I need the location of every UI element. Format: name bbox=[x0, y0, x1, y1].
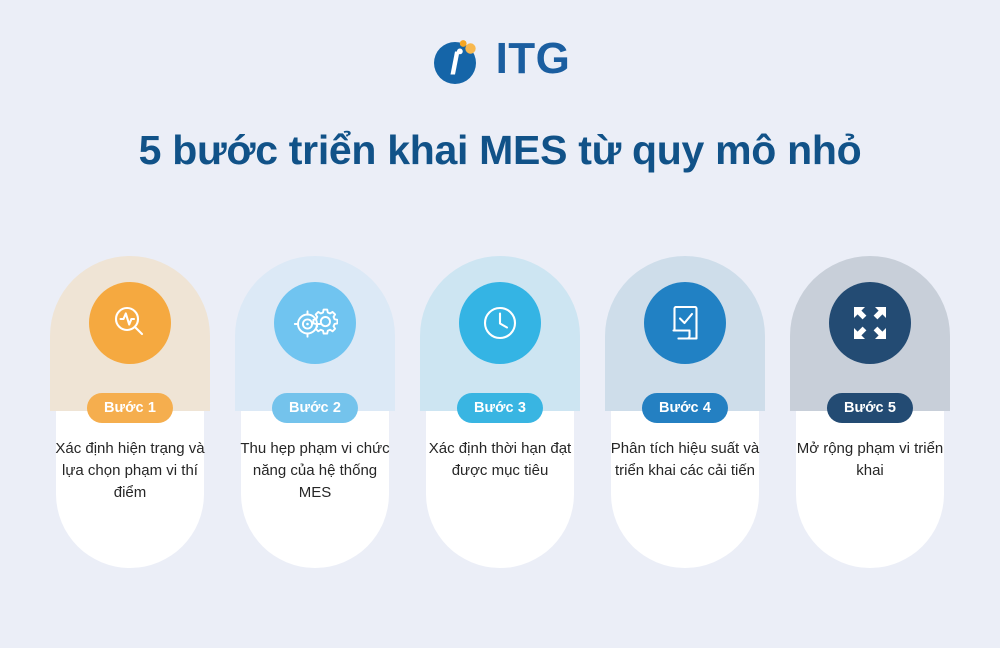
step-description-3: Xác định thời hạn đạt được mục tiêu bbox=[424, 438, 576, 482]
infographic-page: ITG 5 bước triển khai MES từ quy mô nhỏ … bbox=[0, 0, 1000, 648]
step-capsule-bottom-4 bbox=[611, 411, 759, 568]
step-card-3: Bước 3 Xác định thời hạn đạt được mục ti… bbox=[420, 256, 580, 568]
step-card-1: Bước 1 Xác định hiện trạng và lựa chọn p… bbox=[50, 256, 210, 568]
target-gear-icon bbox=[292, 302, 338, 344]
step-badge-2: Bước 2 bbox=[272, 393, 358, 423]
step-badge-5: Bước 5 bbox=[827, 393, 913, 423]
brand-logo: ITG bbox=[0, 28, 1000, 90]
step-card-4: Bước 4 Phân tích hiệu suất và triển khai… bbox=[605, 256, 765, 568]
step-capsule-bottom-3 bbox=[426, 411, 574, 568]
page-title: 5 bước triển khai MES từ quy mô nhỏ bbox=[0, 126, 1000, 174]
expand-arrows-icon bbox=[850, 303, 890, 343]
step-card-5: Bước 5 Mở rộng phạm vi triển khai bbox=[790, 256, 950, 568]
step-description-5: Mở rộng phạm vi triển khai bbox=[794, 438, 946, 482]
step-icon-circle-5 bbox=[829, 282, 911, 364]
magnifier-pulse-icon bbox=[108, 301, 152, 345]
step-description-2: Thu hẹp phạm vi chức năng của hệ thống M… bbox=[239, 438, 391, 504]
step-description-1: Xác định hiện trạng và lựa chọn phạm vi … bbox=[54, 438, 206, 504]
step-icon-circle-1 bbox=[89, 282, 171, 364]
step-capsule-bottom-5 bbox=[796, 411, 944, 568]
step-icon-circle-2 bbox=[274, 282, 356, 364]
steps-container: Bước 1 Xác định hiện trạng và lựa chọn p… bbox=[50, 256, 950, 568]
clock-icon bbox=[479, 302, 521, 344]
step-badge-3: Bước 3 bbox=[457, 393, 543, 423]
step-card-2: Bước 2 Thu hẹp phạm vi chức năng của hệ … bbox=[235, 256, 395, 568]
step-icon-circle-3 bbox=[459, 282, 541, 364]
step-badge-1: Bước 1 bbox=[87, 393, 173, 423]
brand-name: ITG bbox=[496, 37, 571, 81]
document-check-icon bbox=[665, 302, 705, 344]
step-description-4: Phân tích hiệu suất và triển khai các cả… bbox=[609, 438, 761, 482]
itg-logo-mark-icon bbox=[430, 32, 484, 86]
step-icon-circle-4 bbox=[644, 282, 726, 364]
step-badge-4: Bước 4 bbox=[642, 393, 728, 423]
